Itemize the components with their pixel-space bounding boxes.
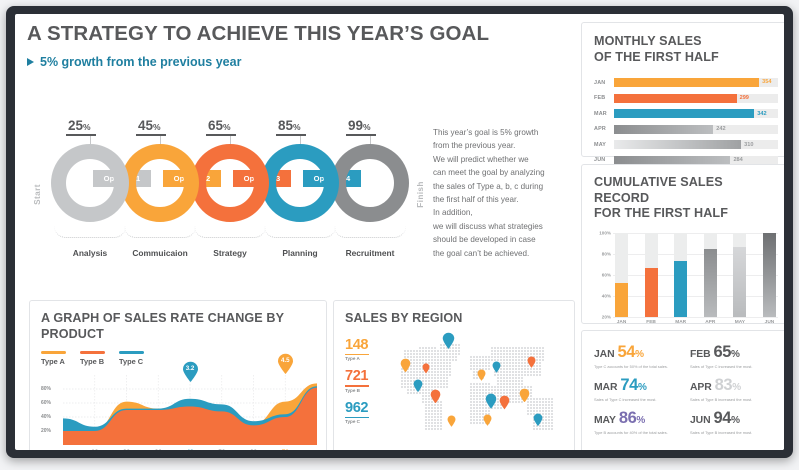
stat-caption: Type C accounts for 50% of the total sal…: [594, 364, 682, 369]
chain-step-rule: [136, 134, 166, 136]
monthly-bar-fill: [614, 78, 759, 87]
monthly-bar-value: 354: [762, 79, 771, 85]
map-location-pin[interactable]: [400, 358, 411, 373]
legend-label: Type A: [41, 357, 66, 366]
stat-unit: %: [731, 415, 740, 426]
region-body: 148Type A721Type B962Type C: [345, 337, 563, 445]
chain-step-percent-value: 85: [278, 118, 293, 133]
sales-rate-annotation-pin[interactable]: 4.5: [277, 353, 294, 374]
stat-caption: Sales of Type C increased the most.: [690, 364, 778, 369]
monthly-stats-panel: JAN54%Type C accounts for 50% of the tot…: [581, 330, 784, 450]
cumulative-sales-title: CUMULATIVE SALES RECORD FOR THE FIRST HA…: [594, 175, 778, 222]
chain-step-percent-value: 65: [208, 118, 223, 133]
legend-swatch: [119, 351, 144, 354]
monthly-bar-track: 310: [614, 140, 778, 149]
chain-step-percent-value: 45: [138, 118, 153, 133]
chain-step-ring[interactable]: [331, 144, 409, 222]
cumulative-bar-column[interactable]: [733, 233, 746, 317]
legend-item[interactable]: Type A: [41, 351, 66, 366]
sales-rate-y-tick: 60%: [41, 400, 51, 406]
monthly-bar-fill: [614, 94, 737, 103]
stat-headline: JUN94%: [690, 409, 778, 428]
sales-rate-plot: 20%40%60%80%102030405060703.24.5: [41, 375, 315, 450]
stat-month: JUN: [690, 415, 711, 426]
page-subtitle: 5% growth from the previous year: [40, 55, 241, 69]
monthly-bar-row: FEB299: [594, 93, 778, 104]
cumulative-y-tick: 40%: [602, 293, 611, 298]
cumulative-x-label: MAY: [733, 320, 746, 325]
cumulative-bar-column[interactable]: [763, 233, 776, 317]
monthly-bar-label: MAY: [594, 142, 614, 148]
chain-step-ring[interactable]: [121, 144, 199, 222]
chain-step-percent-unit: %: [153, 122, 161, 132]
stat-value: 65%: [713, 343, 739, 362]
chain-step-percent: 65%: [208, 118, 231, 133]
map-location-pin[interactable]: [499, 395, 510, 410]
cumulative-bar-column[interactable]: [704, 233, 717, 317]
stat-cell: JAN54%Type C accounts for 50% of the tot…: [594, 339, 682, 369]
monitor-bezel: A STRATEGY TO ACHIEVE THIS YEAR’S GOAL 5…: [6, 6, 793, 458]
stat-caption: Sales of Type B increased the most.: [690, 430, 778, 435]
triangle-right-icon: [27, 58, 34, 66]
stat-month: JAN: [594, 349, 615, 360]
sales-rate-annotation-pin[interactable]: 3.2: [182, 361, 199, 382]
monthly-bar-track: 242: [614, 125, 778, 134]
cumulative-x-label: JAN: [615, 320, 628, 325]
sales-rate-y-tick: 80%: [41, 386, 51, 392]
stat-headline: MAR74%: [594, 376, 682, 395]
chain-step-donut: [261, 144, 339, 222]
monthly-bar-row: MAY310: [594, 139, 778, 150]
monthly-bar-label: JAN: [594, 80, 614, 86]
stat-headline: FEB65%: [690, 343, 778, 362]
chain-step-percent-unit: %: [293, 122, 301, 132]
sales-rate-x-tick: 40: [186, 449, 193, 450]
cumulative-sales-plot: 100%80%60%40%20%JANFEBMARAPRMAYJUN: [594, 233, 778, 328]
monthly-bar-row: MAR342: [594, 108, 778, 119]
monthly-sales-title: MONTHLY SALES OF THE FIRST HALF: [594, 34, 778, 65]
legend-item[interactable]: Type C: [119, 351, 144, 366]
sales-rate-svg: [41, 375, 317, 450]
chain-step-percent-value: 25: [68, 118, 83, 133]
chain-step-arc: [194, 226, 266, 238]
map-location-pin[interactable]: [527, 355, 536, 367]
stat-cell: APR83%Sales of Type B increased the most…: [690, 372, 778, 402]
cumulative-y-tick: 60%: [602, 272, 611, 277]
stat-caption: Sales of Type C increased the most.: [594, 397, 682, 402]
monthly-bar-value: 242: [716, 126, 725, 132]
chain-step-arc: [124, 226, 196, 238]
stat-cell: MAY86%Type B accounts for 40% of the tot…: [594, 405, 682, 435]
sales-rate-annotation-label: 3.2: [182, 365, 199, 372]
stat-value: 54%: [618, 343, 644, 362]
goal-description: This year’s goal is 5% growthfrom the pr…: [433, 126, 575, 260]
sales-rate-y-tick: 20%: [41, 428, 51, 434]
sales-by-region-title: SALES BY REGION: [345, 311, 563, 327]
sales-rate-x-tick: 70: [282, 449, 289, 450]
map-location-pin[interactable]: [483, 413, 492, 425]
monthly-bar-row: JAN354: [594, 77, 778, 88]
cumulative-bar-column[interactable]: [615, 233, 628, 317]
chain-step-percent: 45%: [138, 118, 161, 133]
region-stat-value: 962: [345, 400, 385, 416]
region-stat-rule: [345, 417, 369, 419]
goal-description-text: This year’s goal is 5% growthfrom the pr…: [433, 126, 575, 260]
region-stat-value: 721: [345, 368, 385, 384]
map-location-pin[interactable]: [422, 361, 430, 372]
monthly-bar-track: 342: [614, 109, 778, 118]
sales-rate-annotation-label: 4.5: [277, 357, 294, 364]
chain-step-arc: [54, 226, 126, 238]
stat-cell: MAR74%Sales of Type C increased the most…: [594, 372, 682, 402]
dashboard-header: A STRATEGY TO ACHIEVE THIS YEAR’S GOAL 5…: [27, 22, 567, 84]
stat-caption: Type B accounts for 40% of the total sal…: [594, 430, 682, 435]
stat-unit: %: [731, 349, 740, 360]
cumulative-bar-fill: [733, 247, 746, 316]
sales-by-region-panel: SALES BY REGION 148Type A721Type B962Typ…: [333, 300, 575, 450]
monthly-bar-label: MAR: [594, 111, 614, 117]
cumulative-sales-panel: CUMULATIVE SALES RECORD FOR THE FIRST HA…: [581, 164, 784, 324]
legend-swatch: [80, 351, 105, 354]
sales-rate-x-tick: 50: [218, 449, 225, 450]
monthly-bar-label: APR: [594, 126, 614, 132]
stat-month: FEB: [690, 349, 710, 360]
map-location-pin[interactable]: [430, 389, 441, 404]
stat-headline: APR83%: [690, 376, 778, 395]
chain-step-percent: 85%: [278, 118, 301, 133]
chain-step-percent-unit: %: [363, 122, 371, 132]
sales-rate-x-tick: 60: [250, 449, 257, 450]
stat-cell: FEB65%Sales of Type C increased the most…: [690, 339, 778, 369]
cumulative-x-label: FEB: [645, 320, 658, 325]
cumulative-y-tick: 80%: [602, 251, 611, 256]
map-location-pin[interactable]: [413, 379, 423, 392]
monthly-bar-label: JUN: [594, 157, 614, 163]
chain-step-rule: [346, 134, 376, 136]
stat-unit: %: [635, 349, 644, 360]
stat-unit: %: [638, 382, 647, 393]
sales-rate-legend: Type AType BType C: [41, 351, 315, 366]
cumulative-bar-column[interactable]: [645, 233, 658, 317]
cumulative-x-labels: JANFEBMARAPRMAYJUN: [615, 320, 776, 325]
screenshot-root: A STRATEGY TO ACHIEVE THIS YEAR’S GOAL 5…: [0, 0, 799, 470]
chain-step-percent-unit: %: [223, 122, 231, 132]
monthly-bar-track: 299: [614, 94, 778, 103]
chain-step-label: Recruitment: [325, 248, 415, 258]
region-stat-label: Type B: [345, 388, 385, 393]
stat-value: 83%: [715, 376, 741, 395]
stat-value: 74%: [620, 376, 646, 395]
chain-step-donut: [331, 144, 409, 222]
legend-label: Type C: [119, 357, 144, 366]
sales-rate-x-tick: 30: [155, 449, 162, 450]
chain-step-ring[interactable]: [191, 144, 269, 222]
chain-step-rule: [206, 134, 236, 136]
monthly-bar-value: 342: [757, 111, 766, 117]
monthly-bar-label: FEB: [594, 95, 614, 101]
cumulative-x-label: MAR: [674, 320, 687, 325]
monthly-bar-fill: [614, 109, 754, 118]
sales-rate-y-tick: 40%: [41, 414, 51, 420]
stat-month: MAR: [594, 382, 617, 393]
stat-headline: MAY86%: [594, 409, 682, 428]
chain-step-rule: [66, 134, 96, 136]
chain-step-donut: [191, 144, 269, 222]
chain-step-ring[interactable]: [51, 144, 129, 222]
chain-step-arc: [264, 226, 336, 238]
cumulative-bar-fill: [704, 249, 717, 316]
map-location-pin[interactable]: [447, 414, 456, 426]
map-location-pin[interactable]: [519, 388, 530, 403]
region-stat-value: 148: [345, 337, 385, 353]
stat-unit: %: [636, 415, 645, 426]
legend-item[interactable]: Type B: [80, 351, 105, 366]
monthly-sales-panel: MONTHLY SALES OF THE FIRST HALF JAN354FE…: [581, 22, 784, 157]
sales-rate-x-tick: 10: [91, 449, 98, 450]
chain-step-percent-unit: %: [83, 122, 91, 132]
monthly-bar-value: 284: [733, 157, 742, 163]
cumulative-bar-fill: [645, 268, 658, 316]
cumulative-bar-fill: [763, 233, 776, 317]
stat-unit: %: [732, 382, 741, 393]
stat-month: APR: [690, 382, 712, 393]
region-stat-rule: [345, 354, 369, 356]
cumulative-x-label: JUN: [763, 320, 776, 325]
cumulative-y-axis: 100%80%60%40%20%: [594, 233, 613, 317]
monthly-bar-value: 310: [744, 142, 753, 148]
map-location-pin[interactable]: [442, 332, 455, 349]
stat-value: 86%: [619, 409, 645, 428]
chain-step-percent-value: 99: [348, 118, 363, 133]
page-title: A STRATEGY TO ACHIEVE THIS YEAR’S GOAL: [27, 22, 567, 46]
monthly-bar-value: 299: [740, 95, 749, 101]
chain-step-percent: 99%: [348, 118, 371, 133]
stat-headline: JAN54%: [594, 343, 682, 362]
stat-value: 94%: [714, 409, 740, 428]
cumulative-bar-column[interactable]: [674, 233, 687, 317]
chain-start-label: Start: [33, 184, 42, 205]
monthly-sales-bars: JAN354FEB299MAR342APR242MAY310JUN284: [594, 77, 778, 166]
map-location-pin[interactable]: [477, 368, 486, 380]
monthly-bar-row: APR242: [594, 124, 778, 135]
map-location-pin[interactable]: [533, 413, 543, 426]
cumulative-gridline: [613, 317, 778, 318]
world-map: [385, 337, 563, 445]
region-stat-rule: [345, 385, 369, 387]
subtitle-row: 5% growth from the previous year: [27, 55, 567, 69]
legend-swatch: [41, 351, 66, 354]
chain-finish-label: Finish: [416, 181, 425, 208]
sales-rate-x-tick: 20: [123, 449, 130, 450]
stat-caption: Sales of Type B increased the most.: [690, 397, 778, 402]
cumulative-bar-fill: [615, 283, 628, 317]
map-location-pin[interactable]: [492, 360, 501, 372]
monthly-bar-fill: [614, 125, 713, 134]
region-stat-label: Type C: [345, 419, 385, 424]
chain-step-ring[interactable]: [261, 144, 339, 222]
process-chain-diagram: Start Finish 25%$Analysis45%Option 01Com…: [29, 118, 429, 263]
chain-step-percent: 25%: [68, 118, 91, 133]
cumulative-y-tick: 100%: [599, 230, 611, 235]
chain-step-donut: [51, 144, 129, 222]
cumulative-x-label: APR: [704, 320, 717, 325]
chain-steps-container: Start Finish 25%$Analysis45%Option 01Com…: [29, 118, 429, 263]
monthly-bar-fill: [614, 140, 741, 149]
stat-month: MAY: [594, 415, 616, 426]
region-stat-list: 148Type A721Type B962Type C: [345, 337, 385, 445]
legend-label: Type B: [80, 357, 105, 366]
region-stat-label: Type A: [345, 356, 385, 361]
sales-rate-chart-panel: A GRAPH OF SALES RATE CHANGE BY PRODUCT …: [29, 300, 327, 450]
chain-step-donut: [121, 144, 199, 222]
dashboard-canvas: A STRATEGY TO ACHIEVE THIS YEAR’S GOAL 5…: [15, 14, 784, 450]
sales-rate-chart-title: A GRAPH OF SALES RATE CHANGE BY PRODUCT: [41, 311, 315, 342]
chain-step-rule: [276, 134, 306, 136]
chain-step-arc: [334, 226, 406, 238]
stat-cell: JUN94%Sales of Type B increased the most…: [690, 405, 778, 435]
monthly-stats-grid: JAN54%Type C accounts for 50% of the tot…: [594, 339, 778, 436]
monthly-bar-track: 354: [614, 78, 778, 87]
map-location-pin[interactable]: [485, 393, 497, 409]
cumulative-bars: [615, 233, 776, 317]
cumulative-bar-fill: [674, 261, 687, 317]
cumulative-y-tick: 20%: [602, 314, 611, 319]
